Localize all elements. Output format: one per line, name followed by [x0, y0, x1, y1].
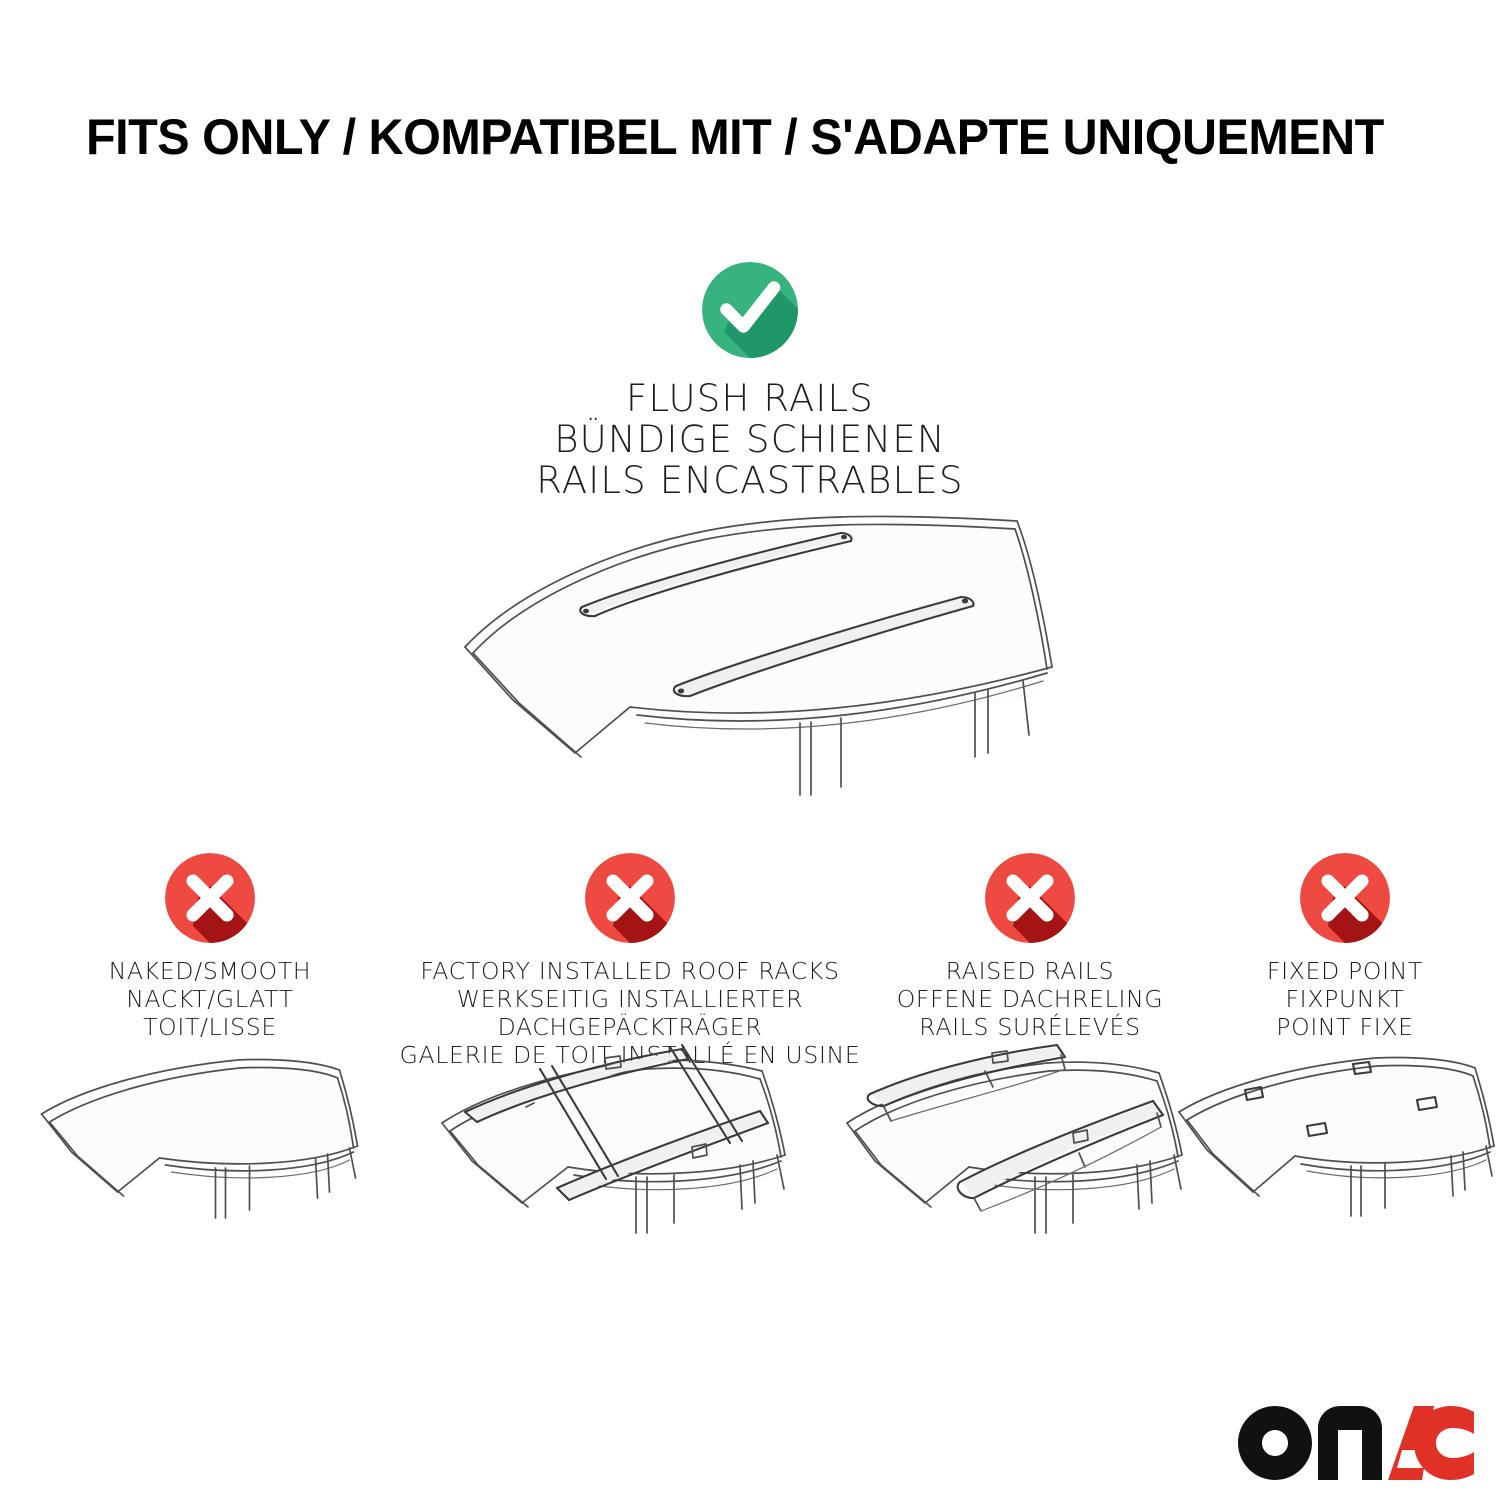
compatible-labels: FLUSH RAILS BÜNDIGE SCHIENEN RAILS ENCAS…	[0, 378, 1500, 501]
cross-circle-icon	[985, 853, 1075, 943]
car-roof-with-flush-rails-illustration	[455, 495, 1065, 795]
cross-circle-icon	[585, 853, 675, 943]
incompatible-labels: RAISED RAILS OFFENE DACHRELING RAILS SUR…	[845, 957, 1215, 1041]
omac-logo	[1238, 1406, 1474, 1480]
label-en: FIXED POINT	[1185, 957, 1500, 985]
incompatible-item-fixed-point: FIXED POINT FIXPUNKT POINT FIXE	[1185, 845, 1500, 1041]
incompatible-labels: NAKED/SMOOTH NACKT/GLATT TOIT/LISSE	[20, 957, 400, 1041]
car-roof-naked-smooth-illustration	[38, 1050, 383, 1280]
label-en: RAISED RAILS	[845, 957, 1215, 985]
logo-letter-o	[1238, 1406, 1312, 1480]
label-fr: POINT FIXE	[1185, 1013, 1500, 1041]
compatible-label-en: FLUSH RAILS	[0, 378, 1500, 419]
label-de: FIXPUNKT	[1185, 985, 1500, 1013]
car-roof-raised-rails-illustration	[835, 1045, 1225, 1285]
incompatible-item-factory-roof-racks: FACTORY INSTALLED ROOF RACKS WERKSEITIG …	[390, 845, 870, 1069]
incompatible-labels: FIXED POINT FIXPUNKT POINT FIXE	[1185, 957, 1500, 1041]
car-roof-fixed-point-illustration	[1175, 1050, 1500, 1280]
label-de-1: WERKSEITIG INSTALLIERTER	[390, 985, 870, 1013]
check-circle-icon	[702, 262, 798, 358]
label-en: FACTORY INSTALLED ROOF RACKS	[390, 957, 870, 985]
label-de: NACKT/GLATT	[20, 985, 400, 1013]
compatible-section: FLUSH RAILS BÜNDIGE SCHIENEN RAILS ENCAS…	[0, 262, 1500, 501]
incompatible-section: NAKED/SMOOTH NACKT/GLATT TOIT/LISSE	[0, 845, 1500, 1325]
compatible-label-de: BÜNDIGE SCHIENEN	[0, 419, 1500, 460]
incompatible-item-raised-rails: RAISED RAILS OFFENE DACHRELING RAILS SUR…	[845, 845, 1215, 1041]
label-fr: RAILS SURÉLEVÉS	[845, 1013, 1215, 1041]
car-roof-factory-installed-roof-racks-illustration	[430, 1045, 830, 1285]
label-de-2: DACHGEPÄCKTRÄGER	[390, 1013, 870, 1041]
label-de: OFFENE DACHRELING	[845, 985, 1215, 1013]
incompatible-item-naked-smooth: NAKED/SMOOTH NACKT/GLATT TOIT/LISSE	[20, 845, 400, 1041]
cross-circle-icon	[1300, 853, 1390, 943]
label-en: NAKED/SMOOTH	[20, 957, 400, 985]
label-fr: TOIT/LISSE	[20, 1013, 400, 1041]
logo-letter-m	[1318, 1406, 1382, 1480]
page-title: FITS ONLY / KOMPATIBEL MIT / S'ADAPTE UN…	[86, 108, 1376, 166]
cross-circle-icon	[165, 853, 255, 943]
